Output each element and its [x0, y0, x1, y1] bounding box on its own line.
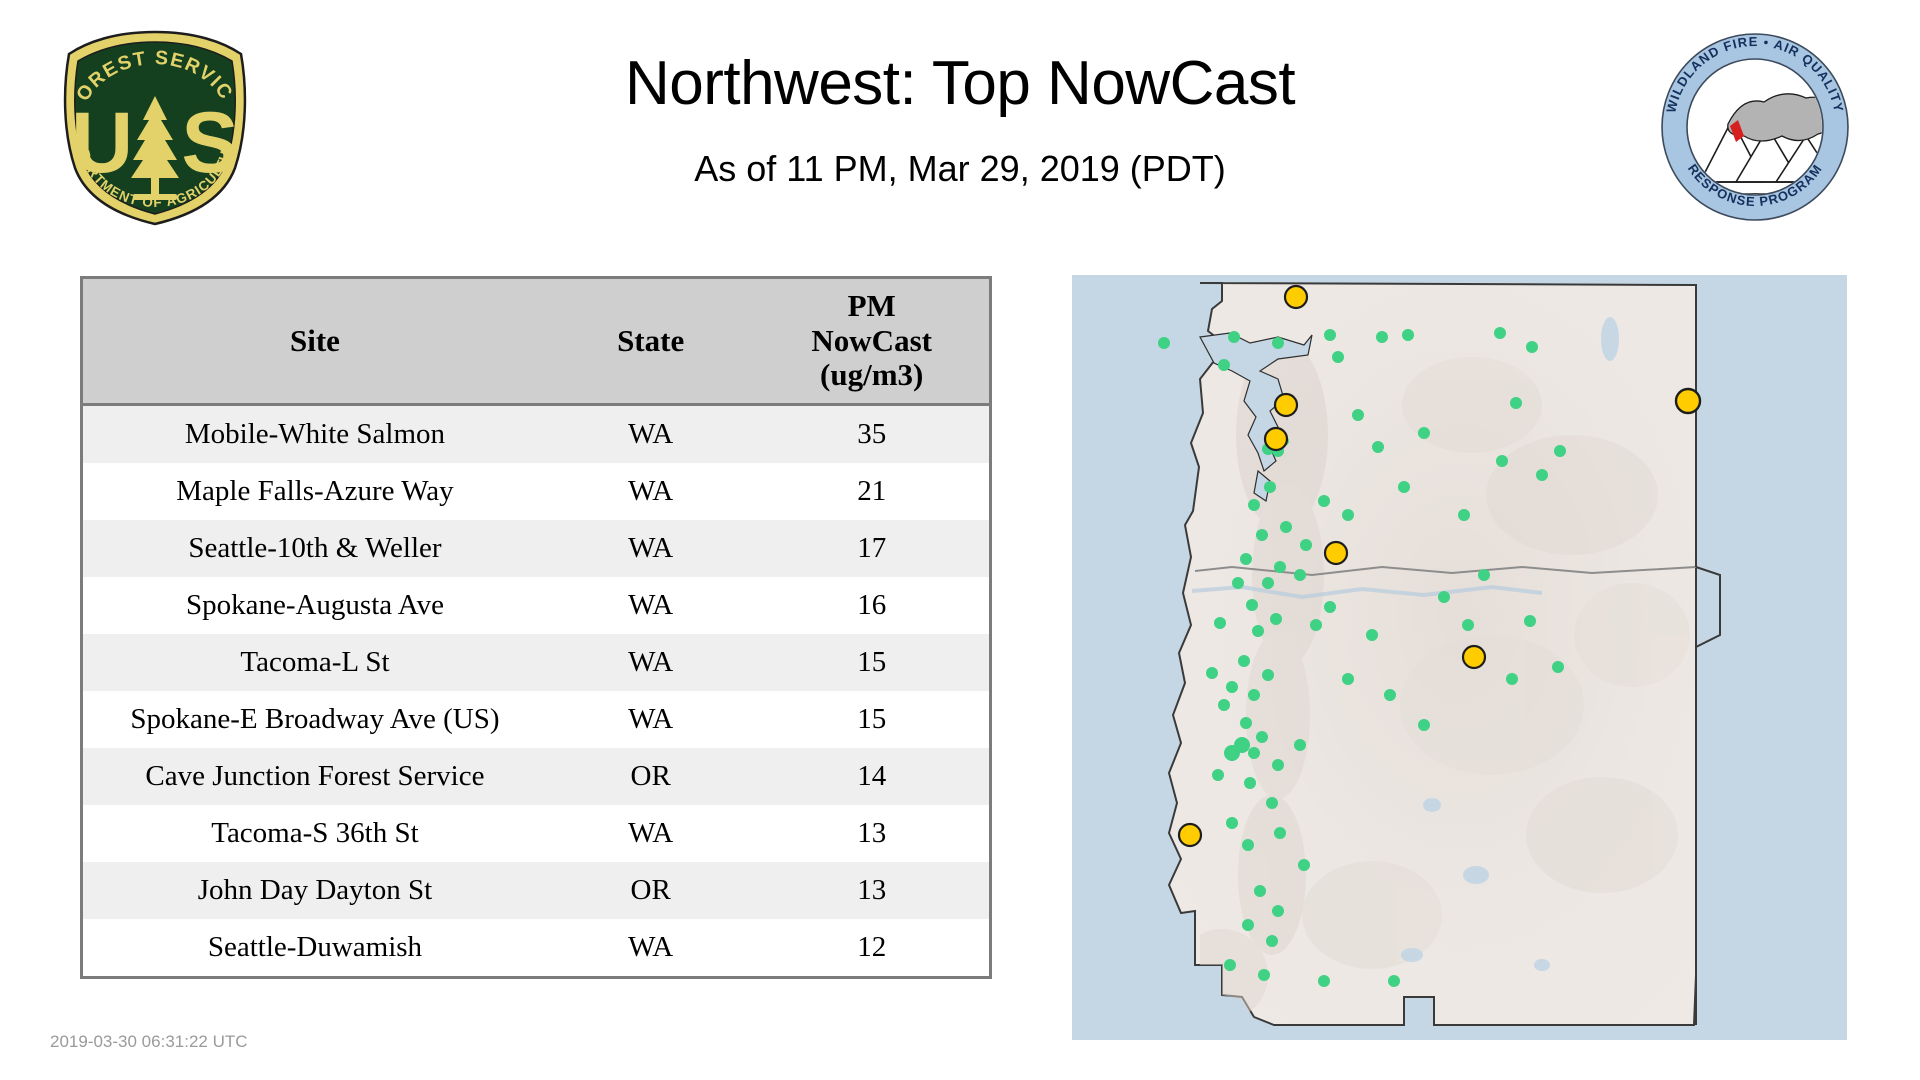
- cell-pm: 12: [754, 919, 989, 976]
- cell-state: OR: [547, 748, 754, 805]
- column-header-pm-nowcast: PM NowCast (ug/m3): [754, 279, 989, 405]
- cell-pm: 17: [754, 520, 989, 577]
- page-subtitle: As of 11 PM, Mar 29, 2019 (PDT): [300, 148, 1620, 190]
- table-row: Seattle-10th & Weller WA 17: [83, 520, 989, 577]
- generated-timestamp: 2019-03-30 06:31:22 UTC: [50, 1032, 248, 1052]
- table-row: Maple Falls-Azure Way WA 21: [83, 463, 989, 520]
- table-row: Spokane-E Broadway Ave (US) WA 15: [83, 691, 989, 748]
- cell-pm: 15: [754, 691, 989, 748]
- table-row: John Day Dayton St OR 13: [83, 862, 989, 919]
- cell-site: Cave Junction Forest Service: [83, 748, 547, 805]
- cell-site: Spokane-Augusta Ave: [83, 577, 547, 634]
- table-header-row: Site State PM NowCast (ug/m3): [83, 279, 989, 405]
- cell-state: WA: [547, 520, 754, 577]
- usda-forest-service-shield-logo: FOREST SERVICE U S DEPARTMENT OF AGRICUL…: [55, 28, 255, 226]
- cell-pm: 35: [754, 405, 989, 464]
- cell-site: Mobile-White Salmon: [83, 405, 547, 464]
- cell-site: Seattle-Duwamish: [83, 919, 547, 976]
- nowcast-table-container: Site State PM NowCast (ug/m3) Mobile-Whi…: [80, 276, 992, 979]
- cell-state: WA: [547, 634, 754, 691]
- cell-site: Seattle-10th & Weller: [83, 520, 547, 577]
- cell-state: WA: [547, 805, 754, 862]
- table-header: Site State PM NowCast (ug/m3): [83, 279, 989, 405]
- cell-state: WA: [547, 577, 754, 634]
- table-row: Tacoma-L St WA 15: [83, 634, 989, 691]
- cell-state: WA: [547, 691, 754, 748]
- cell-pm: 13: [754, 862, 989, 919]
- cell-site: Tacoma-S 36th St: [83, 805, 547, 862]
- pacific-northwest-monitor-map[interactable]: [1072, 275, 1847, 1040]
- page-title: Northwest: Top NowCast: [300, 48, 1620, 119]
- cell-state: WA: [547, 463, 754, 520]
- table-body: Mobile-White Salmon WA 35 Maple Falls-Az…: [83, 405, 989, 977]
- cell-pm: 21: [754, 463, 989, 520]
- table-row: Mobile-White Salmon WA 35: [83, 405, 989, 464]
- cell-site: Spokane-E Broadway Ave (US): [83, 691, 547, 748]
- slide-root: FOREST SERVICE U S DEPARTMENT OF AGRICUL…: [0, 0, 1920, 1080]
- column-header-pm-line2: NowCast: [758, 324, 985, 359]
- cell-site: Maple Falls-Azure Way: [83, 463, 547, 520]
- table-row: Seattle-Duwamish WA 12: [83, 919, 989, 976]
- column-header-pm-line3: (ug/m3): [758, 358, 985, 393]
- cell-site: John Day Dayton St: [83, 862, 547, 919]
- cell-pm: 14: [754, 748, 989, 805]
- nowcast-table: Site State PM NowCast (ug/m3) Mobile-Whi…: [83, 279, 989, 976]
- table-row: Spokane-Augusta Ave WA 16: [83, 577, 989, 634]
- table-row: Cave Junction Forest Service OR 14: [83, 748, 989, 805]
- cell-site: Tacoma-L St: [83, 634, 547, 691]
- cell-state: WA: [547, 405, 754, 464]
- cell-state: OR: [547, 862, 754, 919]
- column-header-pm-line1: PM: [758, 289, 985, 324]
- column-header-state: State: [547, 279, 754, 405]
- cell-state: WA: [547, 919, 754, 976]
- cell-pm: 15: [754, 634, 989, 691]
- wildland-fire-air-quality-seal-logo: WILDLAND FIRE • AIR QUALITY RESPONSE PRO…: [1660, 32, 1850, 222]
- cell-pm: 16: [754, 577, 989, 634]
- table-row: Tacoma-S 36th St WA 13: [83, 805, 989, 862]
- cell-pm: 13: [754, 805, 989, 862]
- column-header-site: Site: [83, 279, 547, 405]
